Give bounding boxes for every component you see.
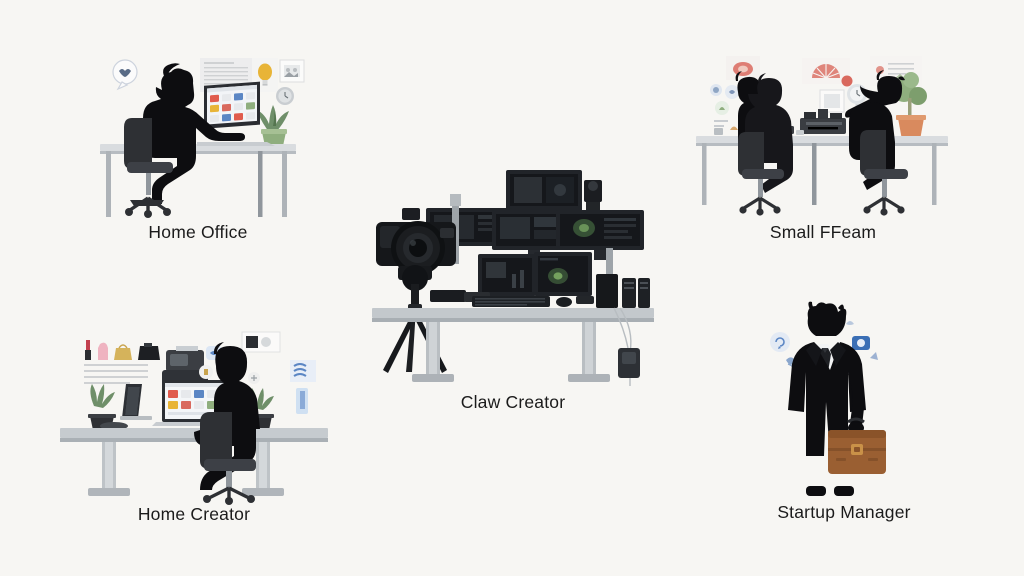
home-creator-illustration: [58, 328, 330, 500]
scene-small-team[interactable]: Small FFeam: [692, 46, 954, 246]
caption-home-creator: Home Creator: [58, 504, 330, 525]
wall-art-blue: [290, 360, 316, 414]
keyboard: [472, 296, 550, 307]
scene-home-office[interactable]: Home Office: [92, 46, 304, 246]
wall-art-fan: [802, 58, 853, 87]
monitor-lower-right: [534, 252, 592, 296]
home-office-illustration: [92, 46, 304, 218]
desk-legs: [412, 322, 610, 382]
scene-home-creator[interactable]: Home Creator: [58, 328, 330, 528]
framed-picture: [820, 90, 844, 112]
desk-surface: [696, 136, 948, 143]
caption-small-team: Small FFeam: [692, 222, 954, 243]
wall-clock-icon: [276, 87, 294, 105]
wall-poster-text: [84, 364, 148, 384]
potted-plant: [257, 105, 289, 146]
illustration-board: Home Office: [0, 0, 1024, 576]
desk-surface: [372, 308, 654, 318]
caption-startup-manager: Startup Manager: [752, 502, 936, 523]
power-brick: [618, 348, 640, 386]
caption-home-office: Home Office: [92, 222, 304, 243]
wall-icons-left: [710, 84, 739, 127]
scene-claw-creator[interactable]: Claw Creator: [368, 166, 658, 416]
person-head: [808, 302, 847, 336]
framed-picture: [242, 332, 280, 352]
startup-manager-illustration: [752, 300, 936, 500]
product-icons: [85, 340, 160, 360]
desk-equipment: [800, 109, 846, 134]
desk-accessories: [556, 296, 594, 307]
desk-surface: [60, 428, 328, 438]
small-team-illustration: [692, 46, 954, 218]
scene-startup-manager[interactable]: Startup Manager: [752, 300, 936, 530]
caption-claw-creator: Claw Creator: [368, 392, 658, 413]
desktop-tower: [596, 274, 650, 308]
monitor-lower-left: [478, 254, 536, 296]
tablet-stand: [120, 384, 152, 420]
claw-creator-illustration: [368, 166, 658, 392]
framed-picture: [280, 60, 304, 82]
wall-art-red: [726, 56, 760, 80]
speech-bubble-icon: [113, 60, 137, 89]
